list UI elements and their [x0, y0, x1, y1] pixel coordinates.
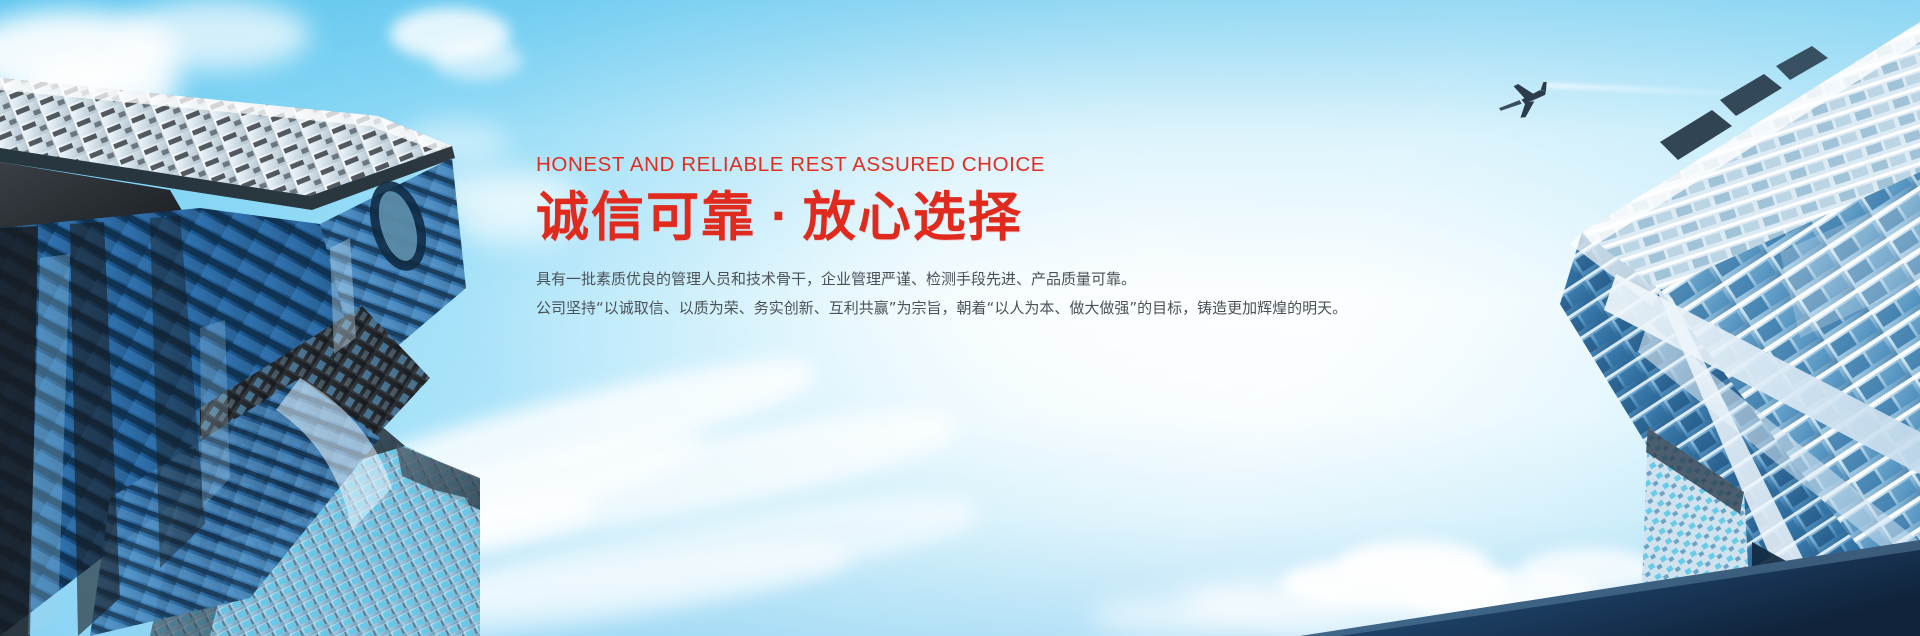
- banner-headline: 诚信可靠·放心选择: [536, 190, 1356, 246]
- headline-right-text: 放心选择: [803, 187, 1023, 248]
- headline-left-text: 诚信可靠: [536, 187, 756, 248]
- banner-description: 具有一批素质优良的管理人员和技术骨干，企业管理严谨、检测手段先进、产品质量可靠。…: [536, 265, 1356, 323]
- hero-banner: HONEST AND RELIABLE REST ASSURED CHOICE …: [0, 0, 1920, 636]
- banner-copy: HONEST AND RELIABLE REST ASSURED CHOICE …: [536, 155, 1356, 323]
- headline-separator: ·: [756, 194, 803, 240]
- description-line-2: 公司坚持“以诚取信、以质为荣、务实创新、互利共赢”为宗旨，朝着“以人为本、做大做…: [536, 294, 1356, 323]
- cloud-shape: [1090, 596, 1290, 636]
- left-building: [0, 78, 470, 636]
- right-building: [1360, 22, 1920, 636]
- description-line-1: 具有一批素质优良的管理人员和技术骨干，企业管理严谨、检测手段先进、产品质量可靠。: [536, 265, 1356, 294]
- cloud-shape: [120, 0, 310, 70]
- cloud-shape: [432, 40, 522, 80]
- banner-eyebrow: HONEST AND RELIABLE REST ASSURED CHOICE: [536, 155, 1356, 176]
